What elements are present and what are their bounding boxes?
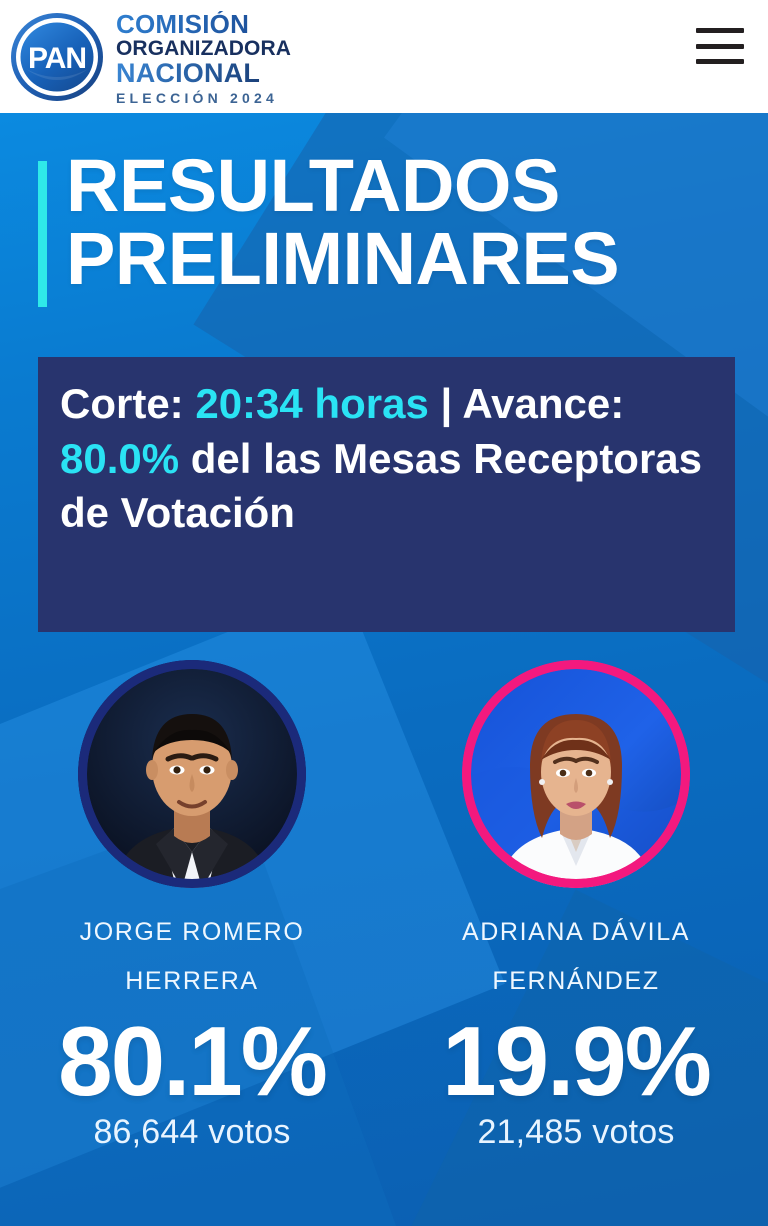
candidate-1-name-line1: JORGE ROMERO bbox=[80, 918, 305, 946]
info-separator: | bbox=[440, 380, 452, 427]
menu-bar-bottom bbox=[696, 59, 744, 64]
candidate-1-votes: 86,644 votos bbox=[93, 1114, 290, 1151]
candidate-1-name: JORGE ROMERO HERRERA bbox=[80, 920, 305, 994]
corte-label: Corte: bbox=[60, 380, 184, 427]
candidate-photo-jorge-romero-icon bbox=[78, 660, 306, 888]
svg-text:PAN: PAN bbox=[28, 42, 86, 75]
candidate-results-row: JORGE ROMERO HERRERA 80.1% 86,644 votos bbox=[0, 660, 768, 1151]
candidate-2-name-line1: ADRIANA DÁVILA bbox=[462, 918, 690, 946]
candidate-1-name-line2: HERRERA bbox=[80, 969, 305, 994]
candidate-photo-adriana-davila-icon bbox=[462, 660, 690, 888]
brand-line-eleccion: ELECCIÓN 2024 bbox=[116, 91, 291, 105]
candidate-card-1: JORGE ROMERO HERRERA 80.1% 86,644 votos bbox=[0, 660, 384, 1151]
page-title: RESULTADOS PRELIMINARES bbox=[66, 150, 768, 295]
brand-text-block: COMISIÓN ORGANIZADORA NACIONAL ELECCIÓN … bbox=[116, 9, 291, 105]
candidate-card-2: ADRIANA DÁVILA FERNÁNDEZ 19.9% 21,485 vo… bbox=[384, 660, 768, 1151]
brand-line-nacional: NACIONAL bbox=[116, 60, 291, 87]
pan-circle-logo-icon: PAN bbox=[6, 9, 108, 105]
accent-bar bbox=[38, 161, 47, 307]
brand-lockup[interactable]: PAN COMISIÓN ORGANIZADORA NACIONAL ELECC… bbox=[6, 9, 291, 105]
brand-line-comision: COMISIÓN bbox=[116, 11, 291, 37]
status-info-box: Corte: 20:34 horas | Avance: 80.0% del l… bbox=[38, 357, 735, 632]
candidate-2-percent: 19.9% bbox=[442, 1012, 710, 1110]
menu-bar-top bbox=[696, 28, 744, 33]
menu-bar-middle bbox=[696, 44, 744, 49]
brand-line-organizadora: ORGANIZADORA bbox=[116, 38, 291, 59]
avance-label: Avance: bbox=[462, 380, 624, 427]
candidate-2-name: ADRIANA DÁVILA FERNÁNDEZ bbox=[462, 920, 690, 994]
avance-value: 80.0% bbox=[60, 435, 179, 482]
candidate-2-name-line2: FERNÁNDEZ bbox=[462, 969, 690, 994]
hamburger-menu-icon[interactable] bbox=[694, 22, 746, 70]
results-page: PAN COMISIÓN ORGANIZADORA NACIONAL ELECC… bbox=[0, 0, 768, 1226]
corte-value: 20:34 horas bbox=[195, 380, 428, 427]
page-title-line1: RESULTADOS bbox=[66, 144, 560, 227]
page-title-line2: PRELIMINARES bbox=[66, 223, 768, 296]
results-stage: RESULTADOS PRELIMINARES Corte: 20:34 hor… bbox=[0, 113, 768, 1226]
candidate-2-votes: 21,485 votos bbox=[477, 1114, 674, 1151]
candidate-1-percent: 80.1% bbox=[58, 1012, 326, 1110]
site-header: PAN COMISIÓN ORGANIZADORA NACIONAL ELECC… bbox=[0, 0, 768, 113]
